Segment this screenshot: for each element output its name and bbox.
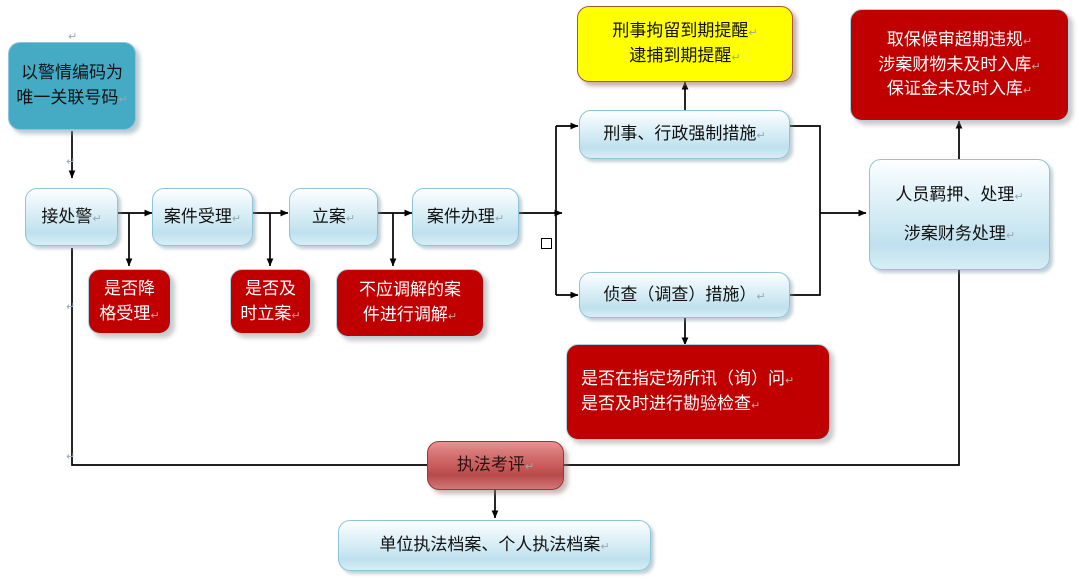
- connector-handle[interactable]: [541, 238, 552, 249]
- node-handling-line-1: 人员羁押、处理↵: [895, 183, 1023, 208]
- node-step1-label: 接处警↵: [41, 205, 101, 230]
- node-step4[interactable]: 案件办理↵: [412, 188, 519, 246]
- node-risk2-line-1: 是否及: [245, 277, 296, 302]
- edge-branchbottom-merge: [790, 213, 820, 295]
- node-archive-label: 单位执法档案、个人执法档案↵: [379, 533, 609, 558]
- node-assessment-label: 执法考评↵: [457, 453, 534, 478]
- node-risk3-line-2: 件进行调解↵: [363, 303, 457, 328]
- node-risk2[interactable]: 是否及 时立案↵: [230, 269, 311, 334]
- node-risk3[interactable]: 不应调解的案 件进行调解↵: [336, 269, 484, 337]
- node-step3[interactable]: 立案↵: [289, 188, 378, 246]
- node-branch-bottom-label: 侦查（调查）措施）↵: [603, 283, 765, 308]
- node-step1[interactable]: 接处警↵: [25, 188, 118, 246]
- pilcrow-mark-bottom-loop: ↵: [66, 450, 75, 463]
- pilcrow-mark-step1: ↵: [66, 155, 75, 168]
- node-alert-red-top-line-2: 涉案财物未及时入库↵: [878, 53, 1040, 78]
- node-assessment[interactable]: 执法考评↵: [427, 441, 564, 490]
- node-step2[interactable]: 案件受理↵: [152, 188, 253, 246]
- node-handling-line-2: 涉案财务处理↵: [904, 222, 1015, 247]
- node-risk1-line-2: 格受理↵: [99, 302, 159, 327]
- node-branch-top[interactable]: 刑事、行政强制措施↵: [579, 110, 790, 159]
- node-source-line-2: 唯一关联号码↵: [16, 86, 127, 111]
- node-risk1[interactable]: 是否降 格受理↵: [88, 269, 171, 334]
- node-risk2-line-2: 时立案↵: [240, 302, 300, 327]
- node-step3-label: 立案↵: [312, 205, 355, 230]
- node-alert-red-top[interactable]: 取保候审超期违规↵ 涉案财物未及时入库↵ 保证金未及时入库↵: [850, 9, 1069, 121]
- node-branch-top-label: 刑事、行政强制措施↵: [603, 122, 765, 147]
- node-source-line-1: 以警情编码为: [21, 61, 123, 86]
- edge-branchtop-merge: [790, 126, 820, 213]
- node-branch-bottom[interactable]: 侦查（调查）措施）↵: [579, 272, 790, 318]
- pilcrow-mark-top: ↵: [68, 30, 77, 43]
- node-source[interactable]: 以警情编码为 唯一关联号码↵: [8, 42, 136, 130]
- flowchart-canvas: 以警情编码为 唯一关联号码↵ 接处警↵ 案件受理↵ 立案↵ 案件办理↵ 是否降 …: [0, 0, 1079, 580]
- node-alert-red-mid[interactable]: 是否在指定场所讯（询）问↵ 是否及时进行勘验检查↵: [566, 344, 830, 440]
- node-alert-red-top-line-3: 保证金未及时入库↵: [887, 77, 1032, 102]
- node-handling[interactable]: 人员羁押、处理↵ 涉案财务处理↵: [869, 159, 1050, 270]
- node-step2-label: 案件受理↵: [164, 205, 241, 230]
- node-alert-yellow-line-1: 刑事拘留到期提醒↵: [612, 19, 757, 44]
- node-alert-red-top-line-1: 取保候审超期违规↵: [887, 28, 1032, 53]
- node-alert-yellow[interactable]: 刑事拘留到期提醒↵ 逮捕到期提醒↵: [577, 6, 793, 82]
- node-risk1-line-1: 是否降: [104, 277, 155, 302]
- node-alert-red-mid-line-2: 是否及时进行勘验检查↵: [581, 392, 760, 417]
- node-step4-label: 案件办理↵: [427, 205, 504, 230]
- pilcrow-mark-left-loop: ↵: [66, 300, 75, 313]
- node-risk3-line-1: 不应调解的案: [359, 278, 461, 303]
- node-alert-red-mid-line-1: 是否在指定场所讯（询）问↵: [581, 367, 794, 392]
- node-alert-yellow-line-2: 逮捕到期提醒↵: [629, 44, 740, 69]
- node-archive[interactable]: 单位执法档案、个人执法档案↵: [338, 520, 651, 571]
